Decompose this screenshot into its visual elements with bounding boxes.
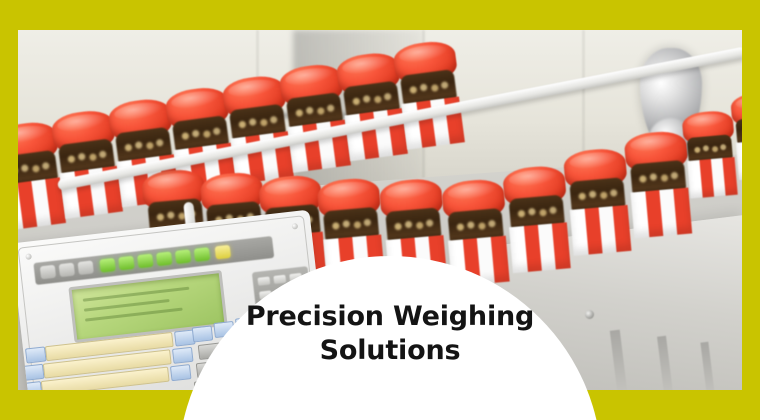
bottle-label	[687, 157, 738, 199]
status-led-green	[118, 256, 134, 271]
bottle-label	[509, 222, 571, 273]
status-led-green	[137, 254, 153, 269]
bottle	[378, 177, 440, 182]
function-key[interactable]	[23, 364, 45, 381]
bottle	[18, 119, 55, 127]
bottle	[502, 165, 564, 170]
status-led-green	[99, 258, 115, 273]
status-led-green	[194, 247, 210, 262]
bottle	[623, 130, 685, 135]
page-title-line-1: Precision Weighing	[246, 301, 534, 332]
bottle	[316, 177, 378, 182]
status-led-grey	[59, 263, 75, 278]
page-title: Precision Weighing Solutions	[190, 300, 590, 368]
bottle	[199, 171, 261, 176]
bottle	[730, 91, 742, 95]
status-led-grey	[78, 260, 94, 275]
banner-root: Precision Weighing Solutions	[0, 0, 760, 420]
bottle-label	[736, 139, 742, 181]
status-led-yellow	[215, 245, 231, 260]
status-led-grey	[40, 265, 56, 280]
bottle	[681, 110, 732, 114]
side-key[interactable]	[273, 275, 286, 284]
status-led-green	[156, 251, 172, 266]
function-key[interactable]	[170, 364, 192, 381]
bottle	[258, 174, 320, 179]
bottle	[50, 108, 111, 116]
side-key[interactable]	[257, 277, 270, 286]
function-key[interactable]	[25, 346, 47, 363]
bottle	[562, 147, 624, 152]
bottle-label	[570, 205, 632, 256]
lcd-text-line	[83, 287, 189, 302]
bottle-label	[630, 188, 692, 239]
page-title-line-2: Solutions	[190, 334, 590, 368]
status-led-green	[175, 249, 191, 264]
bottle	[441, 178, 503, 183]
